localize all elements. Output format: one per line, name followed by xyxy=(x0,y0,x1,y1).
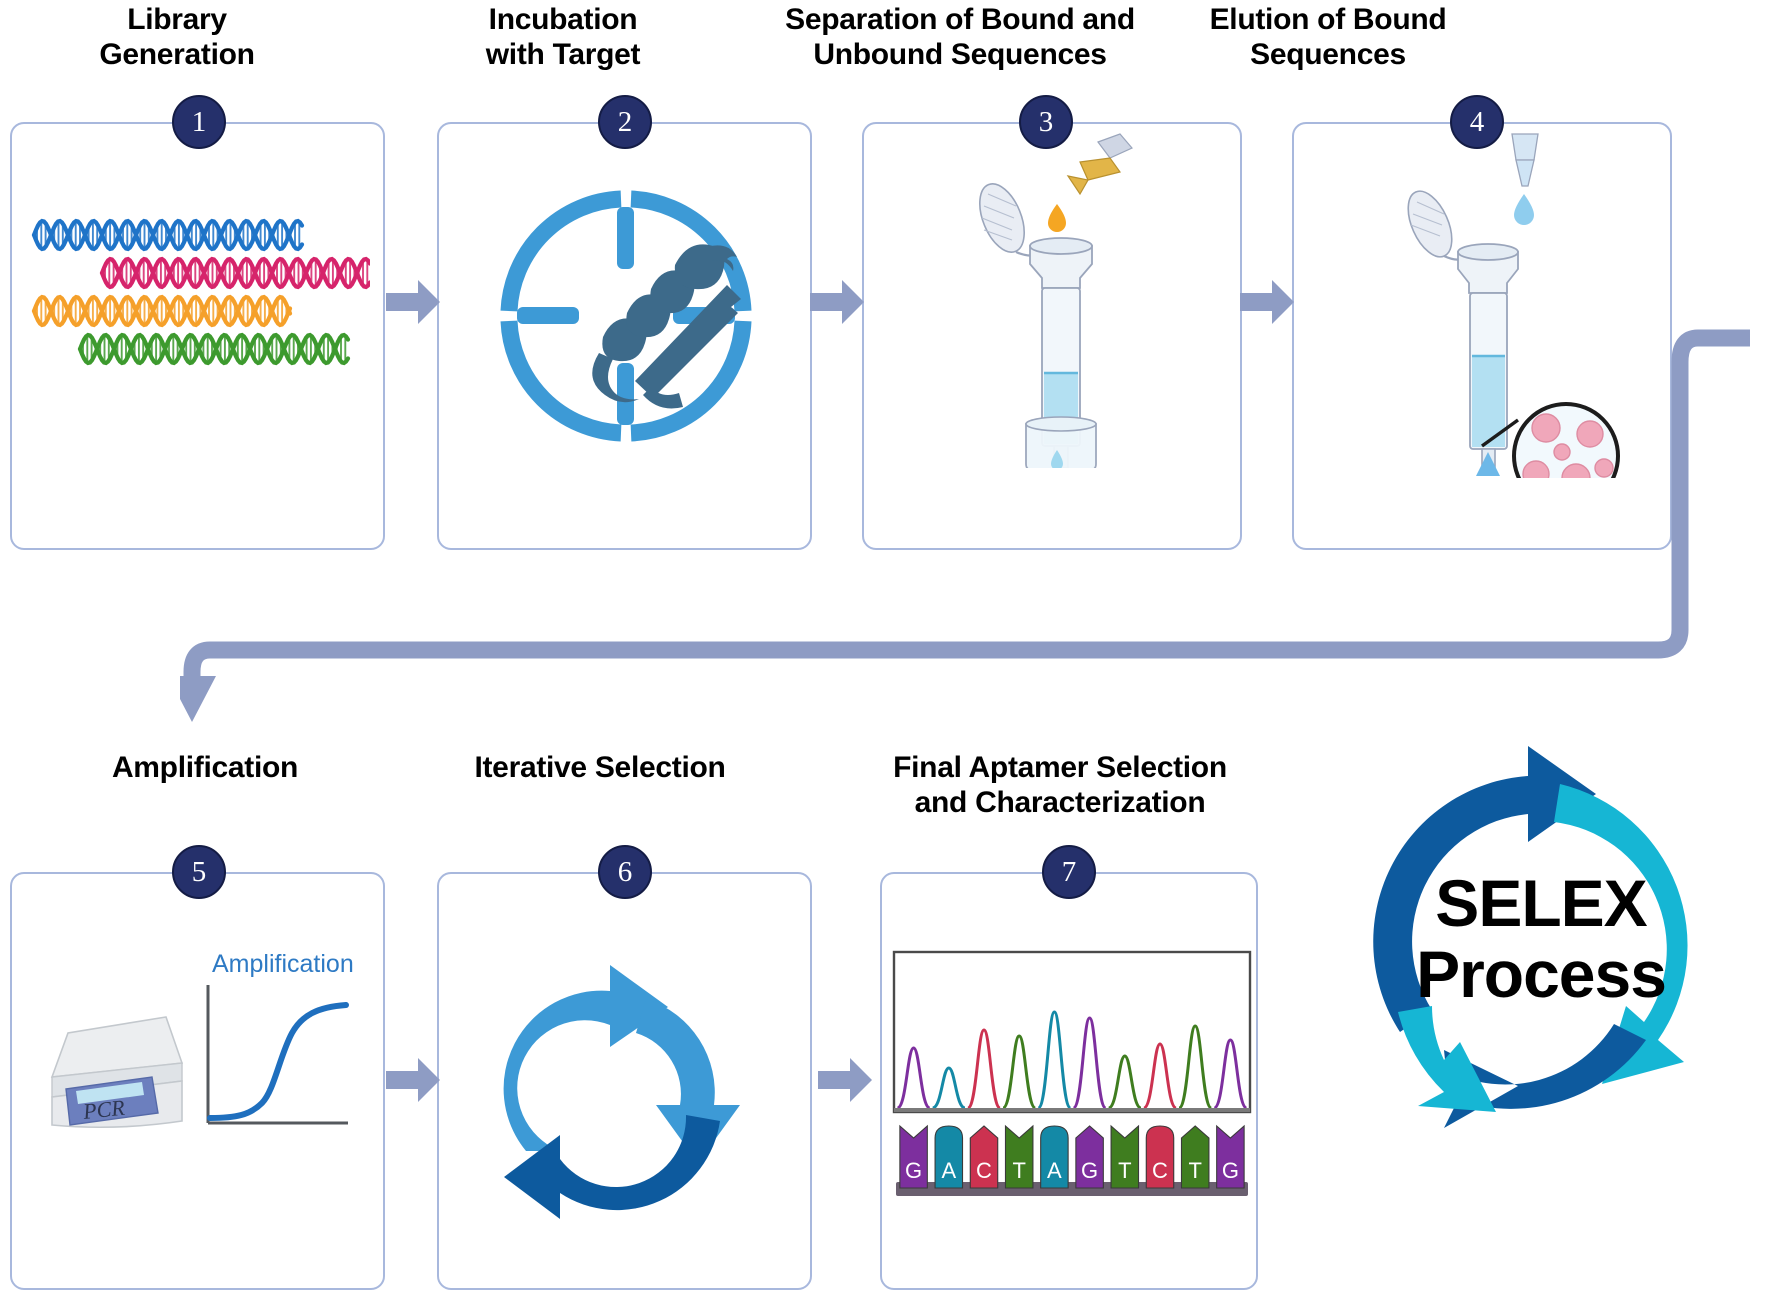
base-tag-c: C xyxy=(1146,1126,1173,1188)
step-1-title-line1: Library xyxy=(22,2,332,37)
sequencing-chromatogram-icon: GACTAGTCTG xyxy=(892,950,1252,1200)
step-7-title: Final Aptamer Selection and Characteriza… xyxy=(850,750,1270,820)
base-tag-g: G xyxy=(900,1126,927,1188)
svg-text:C: C xyxy=(1152,1158,1168,1183)
svg-text:G: G xyxy=(1081,1158,1098,1183)
step-3-title: Separation of Bound and Unbound Sequence… xyxy=(760,2,1160,72)
svg-text:T: T xyxy=(1118,1158,1131,1183)
selex-process-logo: SELEX Process xyxy=(1340,740,1740,1140)
step-3-badge: 3 xyxy=(1019,95,1073,149)
iterative-cycle-illustration xyxy=(490,955,758,1223)
step-4-title-line2: Sequences xyxy=(1178,37,1478,72)
step-3-title-line1: Separation of Bound and xyxy=(760,2,1160,37)
step-2-title: Incubation with Target xyxy=(408,2,718,72)
step-3-title-line2: Unbound Sequences xyxy=(760,37,1160,72)
step-1-title: Library Generation xyxy=(22,2,332,72)
arrow-step4-step5-wrap xyxy=(180,320,1760,730)
base-tag-t: T xyxy=(1005,1126,1032,1188)
step-2-title-line2: with Target xyxy=(408,37,718,72)
step-1-title-line2: Generation xyxy=(22,37,332,72)
arrow-step3-step4 xyxy=(1240,280,1294,324)
step-6-title-line1: Iterative Selection xyxy=(440,750,760,785)
arrow-step6-step7 xyxy=(818,1058,872,1102)
step-4-title: Elution of Bound Sequences xyxy=(1178,2,1478,72)
step-7-badge: 7 xyxy=(1042,845,1096,899)
pcr-device-label: PCR xyxy=(81,1095,126,1124)
step-4-badge: 4 xyxy=(1450,95,1504,149)
base-tag-t: T xyxy=(1181,1126,1208,1188)
selex-logo-line1: SELEX xyxy=(1386,868,1696,939)
base-tag-a: A xyxy=(935,1126,962,1188)
selex-logo-line2: Process xyxy=(1386,939,1696,1010)
svg-text:T: T xyxy=(1188,1158,1201,1183)
svg-text:G: G xyxy=(1222,1158,1239,1183)
pcr-machine-curve-icon: PCR xyxy=(40,985,350,1135)
selex-logo-text: SELEX Process xyxy=(1386,868,1696,1011)
step-4-title-line1: Elution of Bound xyxy=(1178,2,1478,37)
step-5-badge: 5 xyxy=(172,845,226,899)
pcr-machine-illustration: PCR xyxy=(40,985,350,1135)
step-7-title-line2: and Characterization xyxy=(850,785,1270,820)
base-tag-t: T xyxy=(1111,1126,1138,1188)
base-tag-c: C xyxy=(970,1126,997,1188)
step-7-title-line1: Final Aptamer Selection xyxy=(850,750,1270,785)
circular-arrows-icon xyxy=(490,955,758,1223)
step-2-title-line1: Incubation xyxy=(408,2,718,37)
chromatogram-illustration: GACTAGTCTG xyxy=(892,950,1252,1200)
selex-workflow-diagram: Library Generation Incubation with Targe… xyxy=(0,0,1772,1290)
base-tag-g: G xyxy=(1076,1126,1103,1188)
step-1-badge: 1 xyxy=(172,95,226,149)
base-tag-g: G xyxy=(1217,1126,1244,1188)
step-5-title: Amplification xyxy=(55,750,355,785)
arrow-step2-step3 xyxy=(810,280,864,324)
step-6-title: Iterative Selection xyxy=(440,750,760,785)
svg-text:T: T xyxy=(1012,1158,1025,1183)
base-tag-a: A xyxy=(1041,1126,1068,1188)
arrow-step1-step2 xyxy=(386,280,440,324)
svg-text:G: G xyxy=(905,1158,922,1183)
svg-text:C: C xyxy=(976,1158,992,1183)
svg-text:A: A xyxy=(1047,1158,1062,1183)
step-2-badge: 2 xyxy=(598,95,652,149)
step-6-badge: 6 xyxy=(598,845,652,899)
arrow-step5-step6 xyxy=(386,1058,440,1102)
amplification-plot-label: Amplification xyxy=(212,950,354,979)
step-5-title-line1: Amplification xyxy=(55,750,355,785)
svg-text:A: A xyxy=(941,1158,956,1183)
